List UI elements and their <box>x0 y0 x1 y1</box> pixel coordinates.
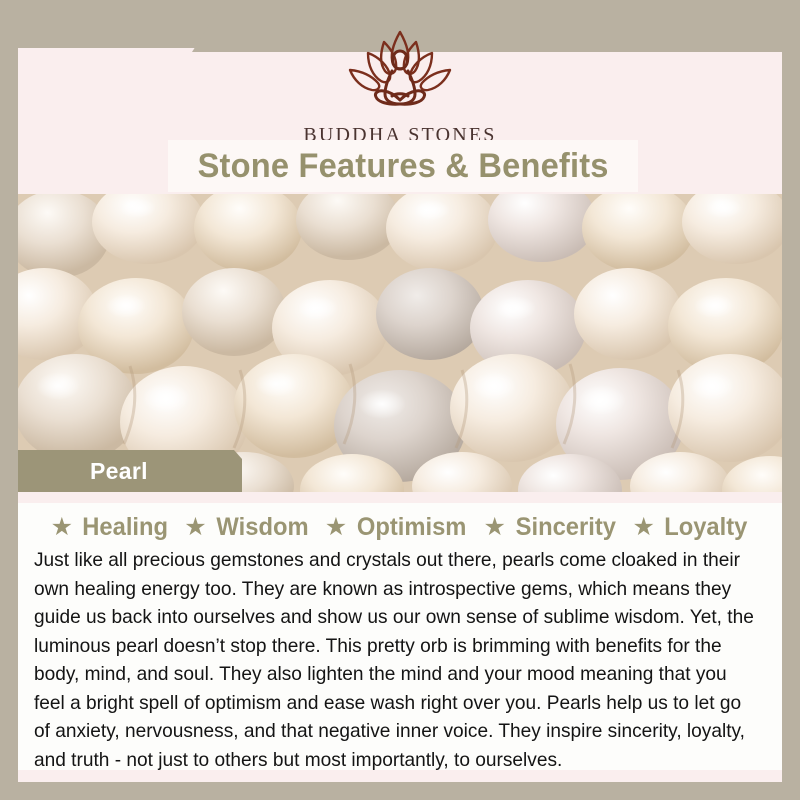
keyword-label: Healing <box>82 513 168 542</box>
card-bottom-sliver <box>18 770 782 782</box>
hero-photo <box>18 194 782 492</box>
keyword-label: Optimism <box>357 513 467 542</box>
stone-name-label: Pearl <box>90 458 148 485</box>
keyword-item-healing: ★ Healing <box>51 513 171 542</box>
keyword-label: Wisdom <box>216 513 308 542</box>
pearl-pile-illustration <box>18 194 782 492</box>
stone-name-bar: Pearl <box>18 450 242 492</box>
star-icon: ★ <box>51 515 73 540</box>
keyword-item-loyalty: ★ Loyalty <box>632 513 749 542</box>
keyword-list: ★ Healing ★ Wisdom ★ Optimism ★ Sincerit… <box>18 503 782 544</box>
star-icon: ★ <box>483 515 505 540</box>
title-plate: Stone Features & Benefits <box>168 140 638 192</box>
brand-logo: BUDDHA STONES <box>0 26 800 147</box>
keyword-item-sincerity: ★ Sincerity <box>483 513 618 542</box>
keyword-label: Loyalty <box>664 513 747 542</box>
star-icon: ★ <box>325 515 347 540</box>
keyword-item-wisdom: ★ Wisdom <box>184 513 310 542</box>
lotus-meditation-icon <box>340 26 460 118</box>
keyword-label: Sincerity <box>515 513 615 542</box>
description-text: Just like all precious gemstones and cry… <box>34 546 755 774</box>
star-icon: ★ <box>632 515 654 540</box>
page-title: Stone Features & Benefits <box>197 147 608 186</box>
keyword-item-optimism: ★ Optimism <box>325 513 470 542</box>
infographic-root: BUDDHA STONES Stone Features & Benefits <box>0 0 800 800</box>
description-panel: ★ Healing ★ Wisdom ★ Optimism ★ Sincerit… <box>18 503 782 782</box>
star-icon: ★ <box>184 515 206 540</box>
